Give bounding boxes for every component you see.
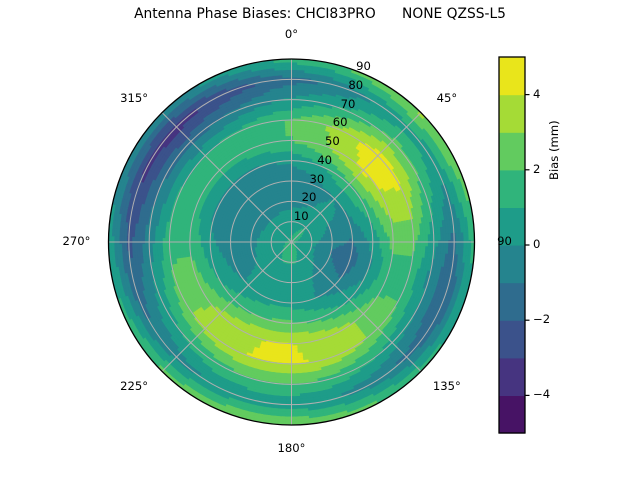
colorbar-band: [499, 57, 525, 95]
colorbar-band: [499, 358, 525, 396]
azimuth-tick-label-0: 0°: [285, 27, 298, 41]
radial-tick-label-10: 10: [294, 209, 309, 223]
radial-tick-label-20: 20: [302, 190, 317, 204]
colorbar-tick-label-0: 4: [533, 87, 540, 101]
colorbar-band: [499, 170, 525, 208]
radial-tick-label-50: 50: [325, 134, 340, 148]
colorbar-svg: [0, 0, 640, 480]
colorbar-tick-label-2: 0: [533, 237, 540, 251]
figure-canvas: Antenna Phase Biases: CHCI83PRO NONE QZS…: [0, 0, 640, 480]
azimuth-tick-label-90: 90: [497, 234, 512, 248]
colorbar-band: [499, 283, 525, 321]
radial-tick-label-90: 90: [356, 59, 371, 73]
radial-tick-label-40: 40: [317, 153, 332, 167]
colorbar-tick-label-1: 2: [533, 162, 540, 176]
radial-tick-label-60: 60: [333, 115, 348, 129]
colorbar-band: [499, 320, 525, 358]
colorbar-band: [499, 132, 525, 170]
radial-tick-label-30: 30: [309, 172, 324, 186]
azimuth-tick-label-270: 270°: [63, 234, 91, 248]
azimuth-tick-label-135: 135°: [433, 379, 461, 393]
azimuth-tick-label-315: 315°: [120, 91, 148, 105]
colorbar-band: [499, 245, 525, 283]
colorbar-label: Bias (mm): [547, 120, 561, 180]
azimuth-tick-label-225: 225°: [120, 379, 148, 393]
colorbar-tick-label-4: −4: [533, 387, 550, 401]
colorbar-tick-label-3: −2: [533, 312, 550, 326]
azimuth-tick-label-45: 45°: [437, 91, 458, 105]
radial-tick-label-80: 80: [348, 78, 363, 92]
azimuth-tick-label-180: 180°: [278, 441, 306, 455]
radial-tick-label-70: 70: [341, 97, 356, 111]
colorbar-band: [499, 95, 525, 133]
colorbar-band: [499, 395, 525, 433]
